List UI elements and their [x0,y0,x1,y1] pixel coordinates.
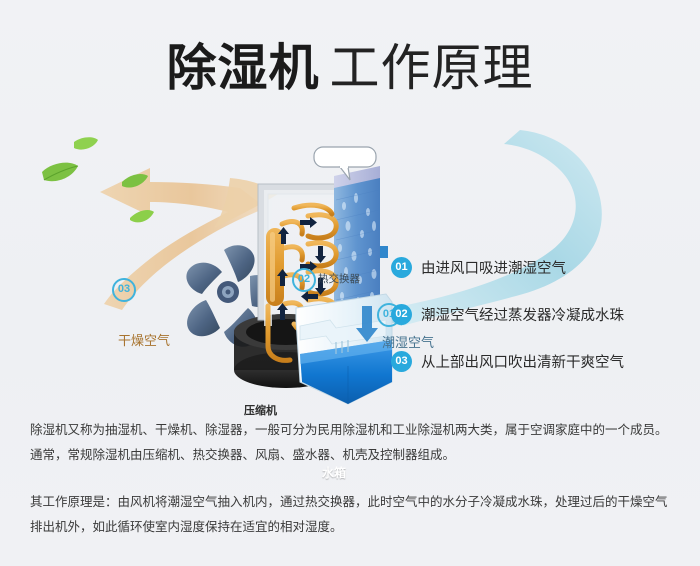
diagram-badge-02: 02 [292,268,316,292]
step-text-01: 由进风口吸进潮湿空气 [421,257,566,278]
step-text-03: 从上部出风口吹出清新干爽空气 [421,351,624,372]
description-paragraph-2: 其工作原理是：由风机将潮湿空气抽入机内，通过热交换器，此时空气中的水分子冷凝成水… [30,490,675,540]
label-dry-air: 干燥空气 [118,330,170,349]
step-badge-02: 02 [391,304,412,325]
list-item: 02 潮湿空气经过蒸发器冷凝成水珠 [391,303,691,325]
dehumidifier-infographic-page: 除湿机工作原理 [0,0,700,566]
page-title-light: 工作原理 [330,40,534,96]
step-badge-01: 01 [391,257,412,278]
list-item: 01 由进风口吸进潮湿空气 [391,256,691,278]
description-section: 除湿机又称为抽湿机、干燥机、除湿器，一般可分为民用除湿机和工业除湿机两大类，属于… [30,418,675,540]
page-title: 除湿机工作原理 [0,28,700,100]
page-title-bold: 除湿机 [167,40,320,96]
diagram-badge-03: 03 [112,278,136,302]
label-compressor: 压缩机 [244,402,277,418]
step-text-02: 潮湿空气经过蒸发器冷凝成水珠 [421,304,624,325]
label-heat-exchanger: 热交换器 [318,271,360,286]
list-item: 03 从上部出风口吹出清新干爽空气 [391,350,691,372]
description-paragraph-1: 除湿机又称为抽湿机、干燥机、除湿器，一般可分为民用除湿机和工业除湿机两大类，属于… [30,418,675,468]
principle-steps-list: 01 由进风口吸进潮湿空气 02 潮湿空气经过蒸发器冷凝成水珠 03 从上部出风… [391,256,691,397]
step-badge-03: 03 [391,351,412,372]
